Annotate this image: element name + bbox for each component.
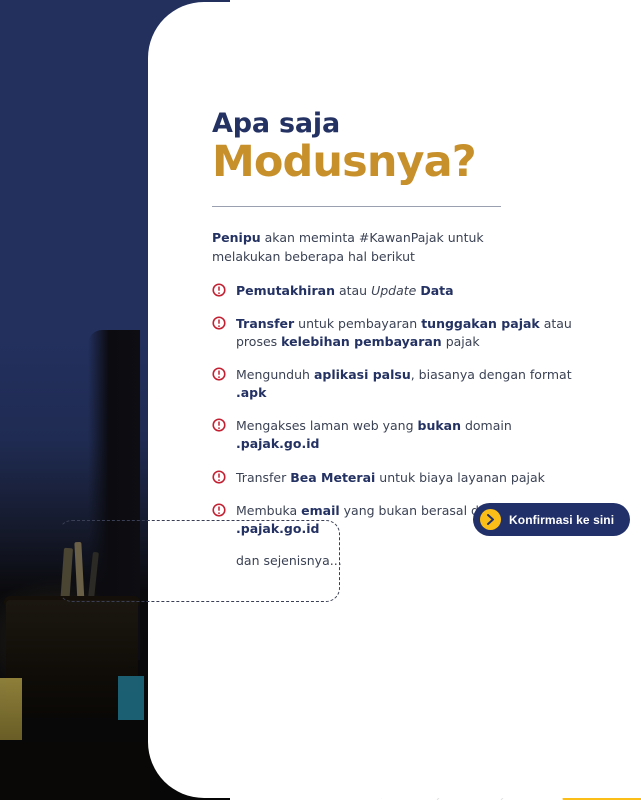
list-item-text-part: Data: [420, 283, 453, 298]
list-item: Transfer untuk pembayaran tunggakan paja…: [212, 315, 582, 351]
photo-foreground-shadow: [0, 742, 150, 800]
warning-circle-icon: [212, 283, 226, 297]
chevron-right-icon: [480, 509, 501, 530]
warning-circle-icon: [212, 418, 226, 432]
photo-sticky-note: [0, 678, 22, 740]
list-item-text-part: domain: [461, 418, 512, 433]
list-item-text-part: untuk pembayaran: [294, 316, 421, 331]
list-item-text-part: email: [301, 503, 340, 518]
warning-circle-icon: [212, 503, 226, 517]
photo-teal-object: [118, 676, 144, 720]
warning-circle-icon: [212, 367, 226, 381]
warning-circle-icon: [212, 316, 226, 330]
list-item-text-part: bukan: [418, 418, 462, 433]
modus-list: Pemutakhiran atau Update DataTransfer un…: [212, 282, 572, 538]
headline-line-1: Apa saja: [212, 110, 572, 139]
headline-line-2: Modusnya?: [212, 141, 572, 185]
list-item: Mengunduh aplikasi palsu, biasanya denga…: [212, 366, 582, 402]
warning-circle-icon: [212, 470, 226, 484]
list-item-text-part: untuk biaya layanan pajak: [375, 470, 545, 485]
intro-bold-lead: Penipu: [212, 230, 261, 245]
list-item-text-part: Mengunduh: [236, 367, 314, 382]
list-item-text-part: aplikasi palsu: [314, 367, 411, 382]
intro-paragraph: Penipu akan meminta #KawanPajak untuk me…: [212, 229, 547, 265]
list-item-text-part: pajak: [442, 334, 480, 349]
list-item-text-part: kelebihan pembayaran: [281, 334, 442, 349]
list-item-text-part: , biasanya dengan format: [411, 367, 572, 382]
list-item-text-part: .apk: [236, 385, 266, 400]
konfirmasi-button[interactable]: Konfirmasi ke sini: [473, 503, 630, 536]
dashed-outline-box: [58, 520, 340, 602]
list-item-text-part: tunggakan pajak: [421, 316, 540, 331]
list-item: Pemutakhiran atau Update Data: [212, 282, 582, 300]
list-item-text-part: .pajak.go.id: [236, 436, 319, 451]
card-content: Apa saja Modusnya? Penipu akan meminta #…: [212, 110, 572, 568]
list-item-text-part: Transfer: [236, 470, 290, 485]
list-item: Mengakses laman web yang bukan domain .p…: [212, 417, 582, 453]
list-item-text-part: Pemutakhiran: [236, 283, 335, 298]
poster-canvas: Apa saja Modusnya? Penipu akan meminta #…: [0, 0, 641, 800]
list-item-text-part: Bea Meterai: [290, 470, 375, 485]
list-item-text-part: atau: [335, 283, 371, 298]
header-divider: [212, 206, 501, 207]
konfirmasi-button-label: Konfirmasi ke sini: [509, 513, 614, 527]
content-card: Apa saja Modusnya? Penipu akan meminta #…: [148, 2, 641, 798]
list-item-text-part: Mengakses laman web yang: [236, 418, 418, 433]
list-item-text-part: Membuka: [236, 503, 301, 518]
list-item-text-part: Update: [371, 283, 416, 298]
list-item-text-part: Transfer: [236, 316, 294, 331]
list-item: Transfer Bea Meterai untuk biaya layanan…: [212, 469, 582, 487]
